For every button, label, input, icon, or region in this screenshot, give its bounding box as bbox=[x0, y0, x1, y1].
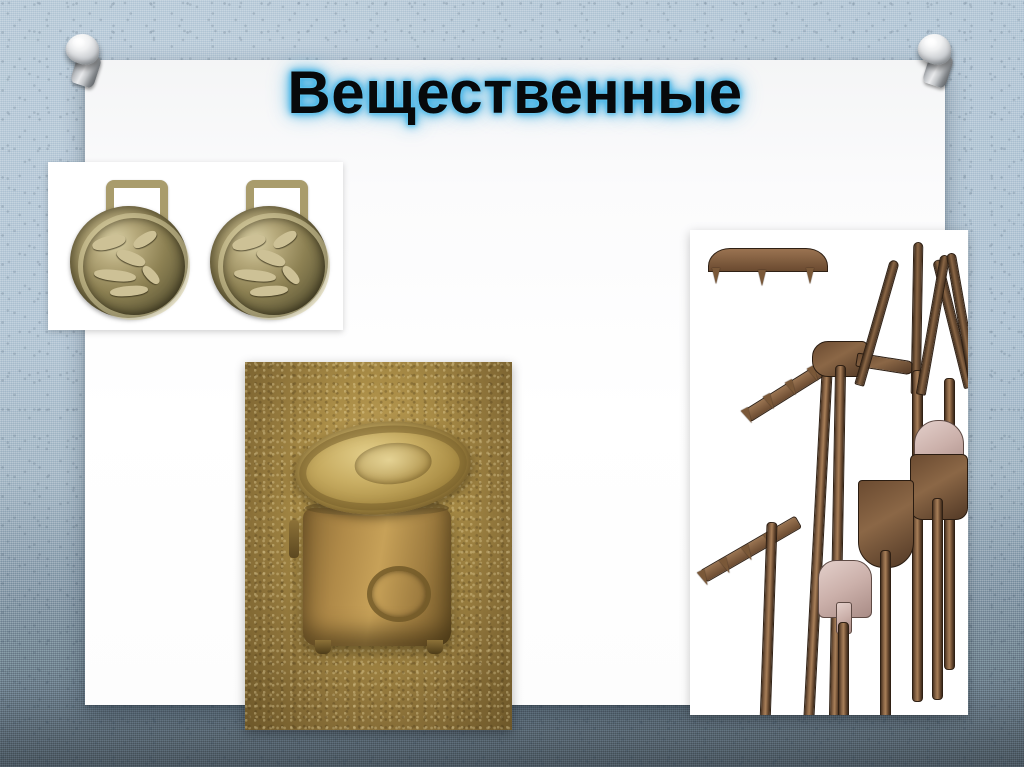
casket-foot bbox=[427, 640, 443, 654]
tool-spade-small bbox=[814, 560, 884, 715]
photo-amulets[interactable] bbox=[48, 162, 343, 330]
pushpin-left[interactable] bbox=[58, 30, 114, 92]
photo-casket[interactable] bbox=[245, 362, 512, 730]
presentation-slide: Вещественные bbox=[0, 0, 1024, 767]
tool-rake-head-loose bbox=[708, 248, 828, 298]
amulet-right bbox=[200, 178, 340, 318]
casket-foot bbox=[315, 640, 331, 654]
amulet-rim bbox=[78, 213, 190, 320]
photo-tools[interactable] bbox=[690, 230, 968, 715]
amulet-rim bbox=[218, 213, 330, 320]
casket-clasp bbox=[289, 520, 299, 558]
slide-title: Вещественные bbox=[85, 58, 945, 127]
casket-cartouche bbox=[367, 566, 431, 622]
pushpin-right[interactable] bbox=[910, 30, 966, 92]
amulet-left bbox=[60, 178, 200, 318]
